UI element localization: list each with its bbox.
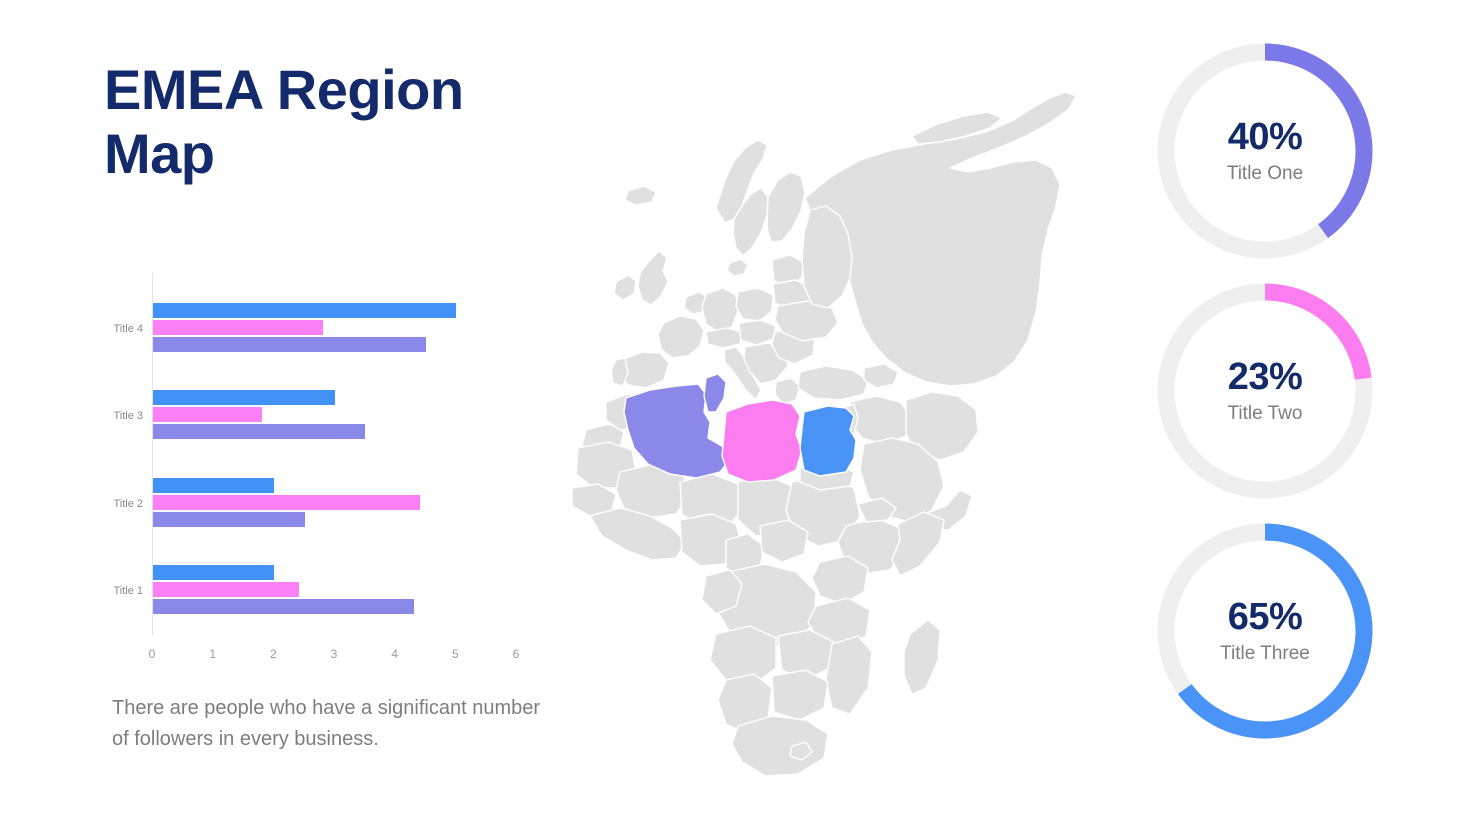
country-turkey xyxy=(798,366,868,400)
bar-row xyxy=(153,478,516,493)
country-angola xyxy=(710,626,776,684)
country-tunisia-highlight[interactable] xyxy=(704,374,726,412)
donut-center: 40%Title One xyxy=(1150,36,1380,266)
bar-row xyxy=(153,599,516,614)
bar-group: Title 1 xyxy=(153,565,516,617)
bar-row xyxy=(153,495,516,510)
country-iceland xyxy=(625,186,656,205)
x-axis-tick: 2 xyxy=(270,647,277,661)
left-panel: EMEA Region Map Title 1Title 2Title 3Tit… xyxy=(104,58,544,768)
bar-row xyxy=(153,320,516,335)
bar-chart-plot-area: Title 1Title 2Title 3Title 4 xyxy=(152,273,516,635)
bar-series-1[interactable] xyxy=(153,390,335,405)
x-axis-tick: 3 xyxy=(331,647,338,661)
bar-series-2[interactable] xyxy=(153,582,299,597)
page-title: EMEA Region Map xyxy=(104,58,524,186)
map-container xyxy=(520,20,1140,810)
bar-row xyxy=(153,565,516,580)
bar-chart: Title 1Title 2Title 3Title 4 0123456 xyxy=(104,273,544,673)
country-somalia xyxy=(892,512,944,576)
donut-center: 65%Title Three xyxy=(1150,516,1380,746)
bar-group: Title 2 xyxy=(153,478,516,530)
bar-series-3[interactable] xyxy=(153,599,414,614)
bar-category-label: Title 3 xyxy=(113,410,143,422)
bar-row xyxy=(153,424,516,439)
donut-chart-1[interactable]: 40%Title One xyxy=(1150,36,1380,266)
bar-row xyxy=(153,512,516,527)
donut-title-label: Title One xyxy=(1227,163,1303,185)
country-ireland xyxy=(614,275,636,300)
country-libya-highlight[interactable] xyxy=(722,400,802,482)
world-map-svg xyxy=(520,20,1140,810)
donut-title-label: Title Two xyxy=(1228,403,1303,425)
country-south-africa xyxy=(732,716,828,776)
donut-chart-3[interactable]: 65%Title Three xyxy=(1150,516,1380,746)
bar-category-label: Title 1 xyxy=(113,585,143,597)
country-mozambique xyxy=(826,636,872,714)
bar-category-label: Title 2 xyxy=(113,498,143,510)
bar-series-1[interactable] xyxy=(153,565,274,580)
caption-text: There are people who have a significant … xyxy=(112,693,542,755)
country-czech-slovakia-hungary xyxy=(739,320,776,345)
bar-series-3[interactable] xyxy=(153,424,365,439)
country-egypt-highlight[interactable] xyxy=(800,406,856,476)
country-caucasus xyxy=(864,364,898,388)
bar-row xyxy=(153,303,516,318)
bar-series-2[interactable] xyxy=(153,495,420,510)
slide-canvas: EMEA Region Map Title 1Title 2Title 3Tit… xyxy=(0,0,1460,821)
bar-group: Title 3 xyxy=(153,390,516,442)
country-syria-iraq xyxy=(850,396,912,444)
donut-percent-value: 40% xyxy=(1228,117,1303,159)
bar-group: Title 4 xyxy=(153,303,516,355)
bar-row xyxy=(153,337,516,352)
country-germany xyxy=(702,288,738,332)
country-botswana-zimbabwe xyxy=(772,670,828,720)
bar-row xyxy=(153,390,516,405)
donut-percent-value: 23% xyxy=(1228,357,1303,399)
country-west-africa-coast xyxy=(590,508,686,560)
bar-series-2[interactable] xyxy=(153,320,323,335)
x-axis-tick: 4 xyxy=(391,647,398,661)
country-switzerland-austria xyxy=(706,328,742,348)
bar-series-1[interactable] xyxy=(153,478,274,493)
x-axis-tick: 6 xyxy=(513,647,520,661)
donut-percent-value: 65% xyxy=(1228,597,1303,639)
country-united-kingdom xyxy=(638,251,668,305)
bar-series-1[interactable] xyxy=(153,303,456,318)
bar-series-3[interactable] xyxy=(153,512,305,527)
bar-row xyxy=(153,407,516,422)
country-poland xyxy=(736,288,773,321)
donut-chart-2[interactable]: 23%Title Two xyxy=(1150,276,1380,506)
bar-row xyxy=(153,582,516,597)
country-kenya-uganda xyxy=(812,556,868,604)
x-axis-tick: 1 xyxy=(209,647,216,661)
donut-title-label: Title Three xyxy=(1220,643,1310,665)
country-madagascar xyxy=(904,620,940,694)
country-greece xyxy=(775,378,800,404)
bar-chart-x-axis: 0123456 xyxy=(152,635,516,665)
country-denmark xyxy=(727,259,748,276)
x-axis-tick: 5 xyxy=(452,647,459,661)
bar-category-label: Title 4 xyxy=(113,323,143,335)
country-france xyxy=(658,316,704,358)
x-axis-tick: 0 xyxy=(149,647,156,661)
donut-chart-column: 40%Title One23%Title Two65%Title Three xyxy=(1150,36,1400,796)
donut-center: 23%Title Two xyxy=(1150,276,1380,506)
country-finland xyxy=(767,172,805,242)
bar-series-3[interactable] xyxy=(153,337,426,352)
bar-series-2[interactable] xyxy=(153,407,262,422)
